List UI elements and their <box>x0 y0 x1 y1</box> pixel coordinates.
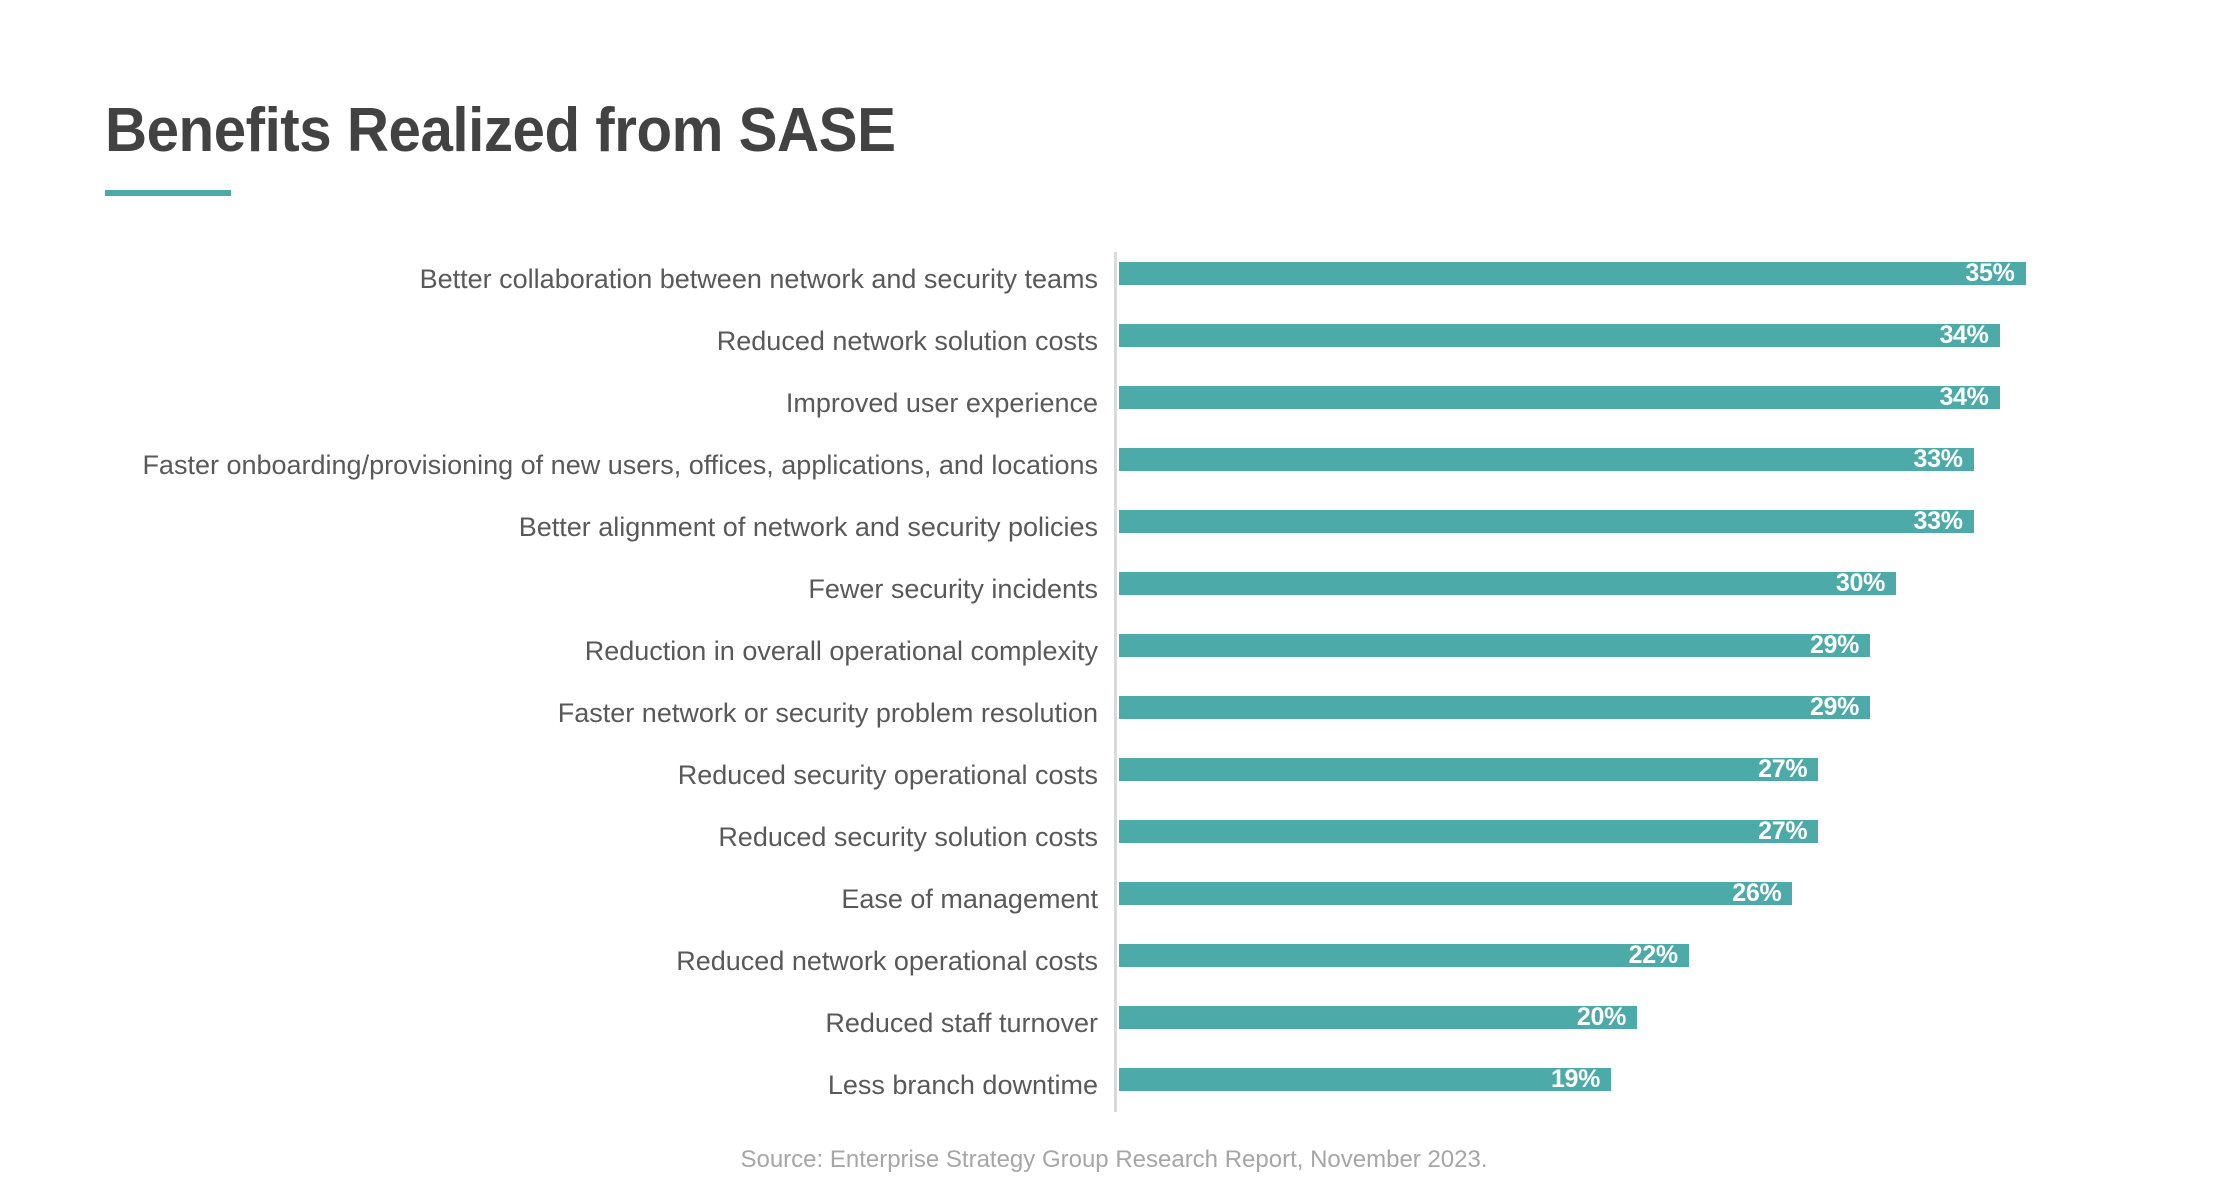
title-block: Benefits Realized from SASE <box>105 100 946 196</box>
bar-wrapper: 20% <box>1119 1006 1637 1029</box>
bar-row: Reduction in overall operational complex… <box>0 620 2228 682</box>
bar[interactable]: 33% <box>1119 510 1974 533</box>
bar[interactable]: 22% <box>1119 944 1689 967</box>
bar-wrapper: 22% <box>1119 944 1689 967</box>
bar-value-label: 19% <box>1551 1067 1600 1092</box>
title-accent-underline <box>105 190 231 196</box>
bar-wrapper: 26% <box>1119 882 1792 905</box>
bar-wrapper: 35% <box>1119 262 2026 285</box>
bar-category-label: Improved user experience <box>0 390 1098 417</box>
bar[interactable]: 35% <box>1119 262 2026 285</box>
bar-wrapper: 19% <box>1119 1068 1611 1091</box>
bar-row: Fewer security incidents30% <box>0 558 2228 620</box>
bar-row: Reduced security operational costs27% <box>0 744 2228 806</box>
bar-wrapper: 27% <box>1119 820 1818 843</box>
bar-value-label: 33% <box>1914 509 1963 534</box>
bar-value-label: 26% <box>1732 881 1781 906</box>
bar[interactable]: 27% <box>1119 758 1818 781</box>
bar[interactable]: 29% <box>1119 634 1870 657</box>
bar-value-label: 34% <box>1939 323 1988 348</box>
bar[interactable]: 30% <box>1119 572 1896 595</box>
bar-wrapper: 27% <box>1119 758 1818 781</box>
bar[interactable]: 34% <box>1119 324 2000 347</box>
bar-value-label: 33% <box>1914 447 1963 472</box>
bar-row: Reduced network solution costs34% <box>0 310 2228 372</box>
bar-value-label: 20% <box>1577 1005 1626 1030</box>
bar-row: Reduced security solution costs27% <box>0 806 2228 868</box>
bar-value-label: 29% <box>1810 633 1859 658</box>
bar-value-label: 27% <box>1758 757 1807 782</box>
page-title: Benefits Realized from SASE <box>105 100 895 162</box>
bar-wrapper: 29% <box>1119 696 1870 719</box>
source-note: Source: Enterprise Strategy Group Resear… <box>0 1148 2228 1172</box>
bar-category-label: Fewer security incidents <box>0 576 1098 603</box>
bar-wrapper: 33% <box>1119 448 1974 471</box>
bar-category-label: Ease of management <box>0 886 1098 913</box>
bar-category-label: Reduced network operational costs <box>0 948 1098 975</box>
bar[interactable]: 26% <box>1119 882 1792 905</box>
bar-row: Faster onboarding/provisioning of new us… <box>0 434 2228 496</box>
bar-wrapper: 34% <box>1119 386 2000 409</box>
bar-category-label: Faster network or security problem resol… <box>0 700 1098 727</box>
bar-wrapper: 33% <box>1119 510 1974 533</box>
bar-category-label: Reduced network solution costs <box>0 328 1098 355</box>
bar-value-label: 34% <box>1939 385 1988 410</box>
bar-value-label: 27% <box>1758 819 1807 844</box>
bar-row: Reduced staff turnover20% <box>0 992 2228 1054</box>
bar-category-label: Less branch downtime <box>0 1072 1098 1099</box>
bar-row: Less branch downtime19% <box>0 1054 2228 1116</box>
bar-row: Better collaboration between network and… <box>0 248 2228 310</box>
bar-value-label: 29% <box>1810 695 1859 720</box>
bar-category-label: Reduction in overall operational complex… <box>0 638 1098 665</box>
bar[interactable]: 33% <box>1119 448 1974 471</box>
bar-wrapper: 34% <box>1119 324 2000 347</box>
bar-wrapper: 30% <box>1119 572 1896 595</box>
bar-row: Ease of management26% <box>0 868 2228 930</box>
bar-value-label: 35% <box>1965 261 2014 286</box>
bar[interactable]: 20% <box>1119 1006 1637 1029</box>
bar[interactable]: 27% <box>1119 820 1818 843</box>
bar[interactable]: 29% <box>1119 696 1870 719</box>
bar-category-label: Reduced security operational costs <box>0 762 1098 789</box>
bar-value-label: 30% <box>1836 571 1885 596</box>
bar-category-label: Reduced security solution costs <box>0 824 1098 851</box>
bar-row: Improved user experience34% <box>0 372 2228 434</box>
bar-row: Better alignment of network and security… <box>0 496 2228 558</box>
bar[interactable]: 34% <box>1119 386 2000 409</box>
bar-category-label: Faster onboarding/provisioning of new us… <box>0 452 1098 479</box>
bar-chart-plot-area: Better collaboration between network and… <box>0 248 2228 1118</box>
bar-value-label: 22% <box>1629 943 1678 968</box>
bar-category-label: Better alignment of network and security… <box>0 514 1098 541</box>
bar-category-label: Better collaboration between network and… <box>0 266 1098 293</box>
bar-wrapper: 29% <box>1119 634 1870 657</box>
bar-row: Reduced network operational costs22% <box>0 930 2228 992</box>
bar[interactable]: 19% <box>1119 1068 1611 1091</box>
bar-row: Faster network or security problem resol… <box>0 682 2228 744</box>
bar-category-label: Reduced staff turnover <box>0 1010 1098 1037</box>
